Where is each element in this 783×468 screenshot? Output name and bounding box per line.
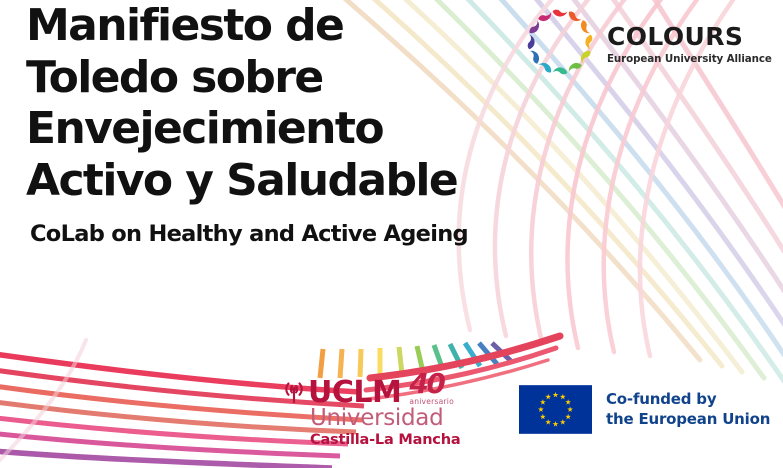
page-title-line-4: Activo y Saludable (26, 159, 626, 203)
page-subtitle: CoLab on Healthy and Active Ageing (30, 221, 626, 247)
eu-flag-icon (519, 385, 592, 434)
colours-logo: COLOURS European University Alliance (521, 3, 772, 81)
uclm-anniversary: 40 aniversario (409, 372, 454, 406)
uclm-wordmark-row: UCLM 40 aniversario (283, 372, 498, 406)
colours-logo-text: COLOURS European University Alliance (607, 20, 772, 65)
uclm-anniversary-label: aniversario (409, 397, 454, 406)
colours-tagline: European University Alliance (607, 53, 772, 65)
eu-funding-logo: Co-funded by the European Union (519, 385, 770, 434)
colours-ring-icon (521, 3, 599, 81)
uclm-wordmark: UCLM (308, 380, 401, 406)
uclm-logo: UCLM 40 aniversario Universidad Castilla… (283, 372, 498, 448)
slide-canvas: Manifiesto de Toledo sobre Envejecimient… (0, 0, 783, 468)
uclm-region-line: Castilla-La Mancha (310, 433, 498, 448)
uclm-universidad-line: Universidad (310, 407, 498, 430)
page-title-line-3: Envejecimiento (26, 107, 626, 151)
uclm-anniversary-number: 40 (409, 372, 454, 396)
uclm-antenna-icon (283, 377, 305, 405)
colours-wordmark: COLOURS (607, 24, 772, 49)
eu-funding-line-1: Co-funded by (606, 390, 770, 409)
eu-funding-line-2: the European Union (606, 410, 770, 429)
eu-funding-text: Co-funded by the European Union (606, 390, 770, 428)
